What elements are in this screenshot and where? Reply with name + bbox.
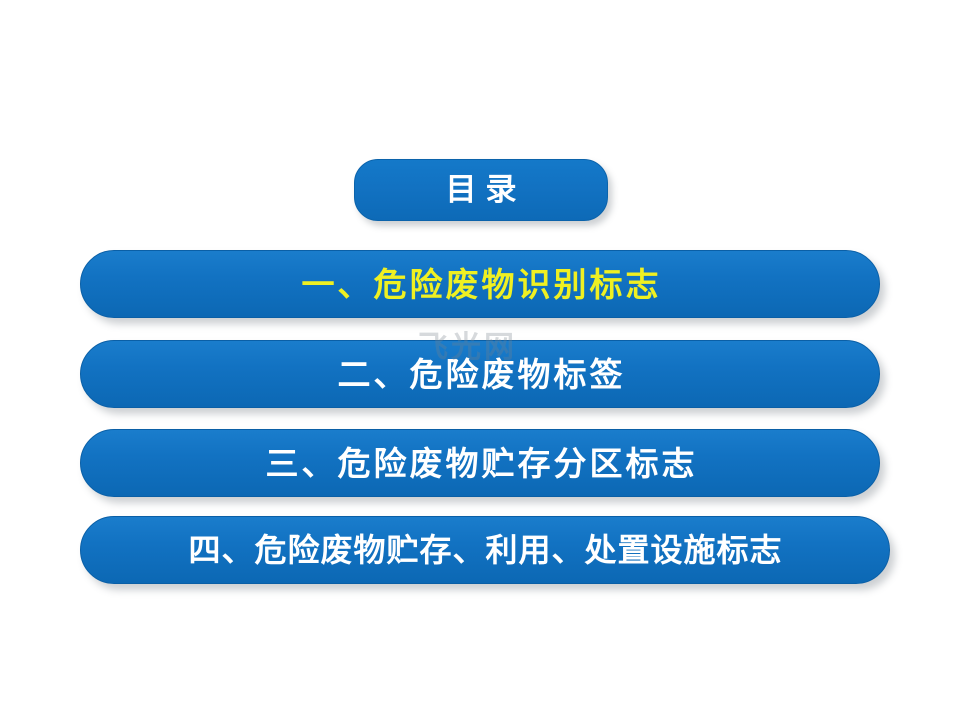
toc-item-1-label: 一、危险废物识别标志	[299, 268, 662, 301]
toc-item-2-label: 二、危险废物标签	[335, 358, 626, 391]
slide-canvas: 目录 一、危险废物识别标志 二、危险废物标签 三、危险废物贮存分区标志 四、危险…	[0, 0, 960, 720]
toc-item-3[interactable]: 三、危险废物贮存分区标志	[80, 429, 880, 497]
toc-item-4-label: 四、危险废物贮存、利用、处置设施标志	[187, 534, 782, 566]
page-title: 目录	[437, 175, 526, 206]
toc-title-pill: 目录	[354, 159, 608, 221]
toc-item-3-label: 三、危险废物贮存分区标志	[263, 447, 698, 480]
toc-item-4[interactable]: 四、危险废物贮存、利用、处置设施标志	[80, 516, 890, 584]
toc-item-2[interactable]: 二、危险废物标签	[80, 340, 880, 408]
toc-item-1[interactable]: 一、危险废物识别标志	[80, 250, 880, 318]
